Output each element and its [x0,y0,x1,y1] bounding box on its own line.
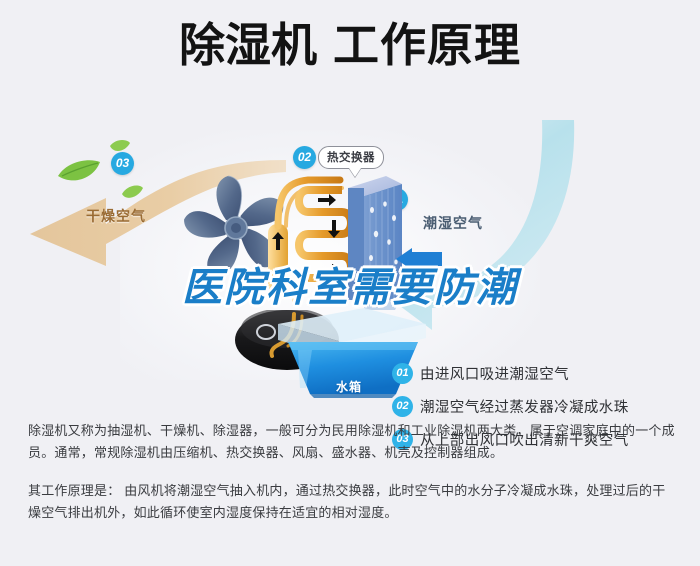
title-part-1: 除湿机 [179,19,317,71]
page-title: 除湿机工作原理 [0,22,700,68]
step-number: 01 [392,363,413,384]
body-paragraph-2: 其工作原理是： 由风机将潮湿空气抽入机内，通过热交换器，此时空气中的水分子冷凝成… [28,480,676,524]
water-tank-label: 水箱 [336,378,362,395]
leaf-decoration-icon [24,132,144,222]
step-text: 由进风口吸进潮湿空气 [420,363,569,384]
dehumidifier-diagram: 干燥空气 03 潮湿空气 01 02 热交换器 [0,110,700,400]
title-part-2: 工作原理 [333,19,521,71]
humid-air-label: 潮湿空气 [423,213,483,233]
dehumidifier-machine: 水箱 [160,150,420,390]
heat-exchanger-icon [346,174,402,310]
step-number: 02 [392,396,413,417]
body-paragraph-1: 除湿机又称为抽湿机、干燥机、除湿器，一般可分为民用除湿机和工业除湿机两大类，属于… [28,420,676,464]
step-text: 潮湿空气经过蒸发器冷凝成水珠 [420,396,629,417]
refrigerant-coil-icon [264,168,354,328]
list-item: 01 由进风口吸进潮湿空气 [392,358,682,388]
inlet-air-arrow-icon [396,248,442,270]
article-body: 除湿机又称为抽湿机、干燥机、除湿器，一般可分为民用除湿机和工业除湿机两大类，属于… [28,420,676,524]
list-item: 02 潮湿空气经过蒸发器冷凝成水珠 [392,391,682,421]
title-line: 除湿机工作原理 [0,22,700,68]
